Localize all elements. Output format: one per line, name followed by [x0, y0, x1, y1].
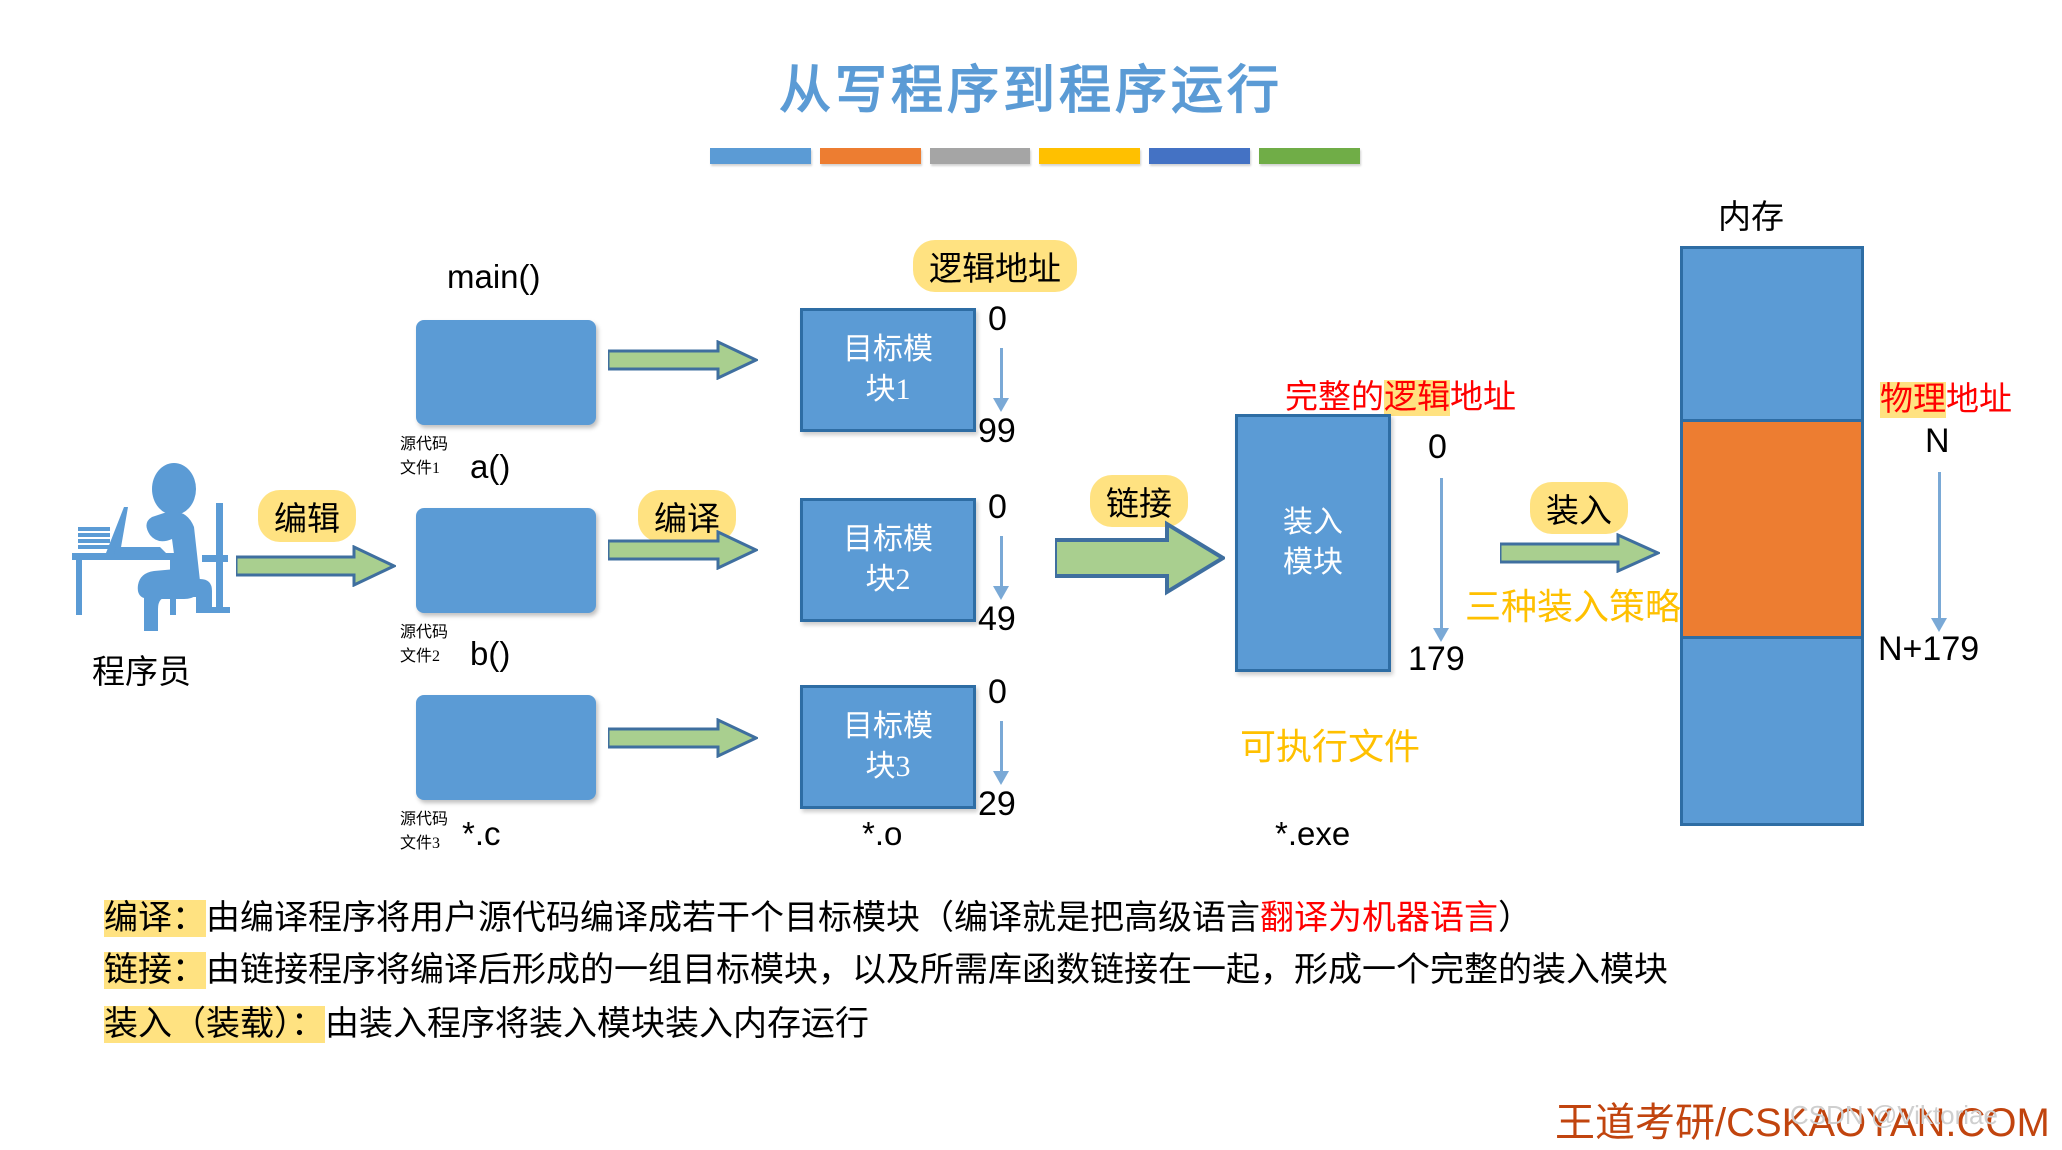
title-bar-1: [710, 148, 811, 164]
note-link-part-1: 由链接程序将编译后形成的一组目标模块，以及所需库函数链接在一起，形成一个完整的装…: [206, 952, 1668, 989]
memory-start-address: N: [1925, 422, 1950, 461]
source-file-2: 源代码 文件2: [400, 498, 595, 623]
logical-address-label: 逻辑地址: [913, 240, 1077, 292]
page-title: 从写程序到程序运行: [0, 48, 2062, 123]
step-edit-label: 编辑: [258, 490, 356, 542]
load-module-box: 装入 模块: [1235, 414, 1391, 672]
step-load-text: 装入: [1530, 482, 1628, 534]
note-load-part-1: 由装入程序将装入模块装入内存运行: [325, 1006, 869, 1043]
memory-segment-free-bottom: [1683, 639, 1861, 823]
note-compile-tag: 编译：: [104, 900, 206, 937]
source-func-1: main(): [447, 258, 541, 296]
step-edit-text: 编辑: [258, 490, 356, 542]
compile-arrow-2: [608, 530, 758, 575]
title-bar-6: [1259, 148, 1360, 164]
object-module-3-line1: 目标模: [843, 707, 933, 747]
load-module-address-prefix: 完整的: [1285, 380, 1384, 416]
object-module-1-line2: 块1: [843, 370, 933, 410]
note-compile-part-2: 翻译为机器语言: [1260, 900, 1498, 937]
load-module-end: 179: [1408, 640, 1465, 679]
note-link: 链接：由链接程序将编译后形成的一组目标模块，以及所需库函数链接在一起，形成一个完…: [104, 942, 1668, 991]
compile-arrow-3: [608, 718, 758, 763]
executable-file-note: 可执行文件: [1240, 718, 1420, 770]
object-module-2-line1: 目标模: [843, 520, 933, 560]
load-strategy-note: 三种装入策略: [1465, 578, 1681, 630]
note-link-tag: 链接：: [104, 952, 206, 989]
object-module-3: 目标模 块3: [800, 685, 976, 809]
memory-segment-free-top: [1683, 249, 1861, 419]
object-module-3-start: 0: [988, 673, 1007, 712]
title-bar-5: [1149, 148, 1250, 164]
object-module-1-end: 99: [978, 412, 1016, 451]
source-func-3: b(): [470, 635, 510, 673]
source-func-2: a(): [470, 448, 510, 486]
load-module-address-suffix: 地址: [1450, 380, 1516, 416]
object-module-1: 目标模 块1: [800, 308, 976, 432]
note-load-tag: 装入（装载）：: [104, 1006, 325, 1043]
title-accent-bars: [710, 148, 1360, 164]
load-module-address-highlight: 逻辑: [1384, 380, 1450, 416]
watermark-credit: CSDN @Viktoriae: [1790, 1100, 1998, 1131]
object-module-2: 目标模 块2: [800, 498, 976, 622]
title-bar-3: [930, 148, 1031, 164]
note-compile: 编译：由编译程序将用户源代码编译成若干个目标模块（编译就是把高级语言翻译为机器语…: [104, 890, 1532, 939]
memory-title: 内存: [1718, 190, 1784, 238]
link-arrow: [1055, 520, 1225, 601]
load-module-ext-label: *.exe: [1275, 815, 1350, 853]
step-load-label: 装入: [1530, 482, 1628, 534]
load-arrow: [1500, 533, 1660, 578]
object-module-1-line1: 目标模: [843, 330, 933, 370]
note-compile-part-3: ）: [1498, 900, 1532, 937]
physical-address-label: 物理地址: [1880, 372, 2012, 420]
compile-arrow-1: [608, 340, 758, 385]
physical-address-highlight: 物理: [1880, 382, 1946, 418]
source-file-1: 源代码 文件1: [400, 310, 595, 435]
object-module-3-line2: 块3: [843, 747, 933, 787]
edit-arrow: [236, 545, 396, 592]
object-module-2-line2: 块2: [843, 560, 933, 600]
note-load: 装入（装载）：由装入程序将装入模块装入内存运行: [104, 996, 869, 1045]
object-module-2-end: 49: [978, 600, 1016, 639]
title-bar-2: [820, 148, 921, 164]
object-module-3-end: 29: [978, 785, 1016, 824]
programmer-label: 程序员: [92, 645, 191, 693]
load-module-start: 0: [1428, 428, 1447, 467]
object-ext-label: *.o: [862, 815, 902, 853]
memory-block: [1680, 246, 1864, 826]
object-module-1-start: 0: [988, 300, 1007, 339]
title-bar-4: [1039, 148, 1140, 164]
load-module-line2: 模块: [1283, 543, 1343, 583]
load-module-address-label: 完整的逻辑地址: [1285, 370, 1516, 418]
logical-address-text: 逻辑地址: [913, 240, 1077, 292]
object-module-2-start: 0: [988, 488, 1007, 527]
source-file-3: 源代码 文件3: [400, 685, 595, 810]
load-module-line1: 装入: [1283, 503, 1343, 543]
note-compile-part-1: 由编译程序将用户源代码编译成若干个目标模块（编译就是把高级语言: [206, 900, 1260, 937]
memory-end-address: N+179: [1878, 630, 1979, 669]
physical-address-suffix: 地址: [1946, 382, 2012, 418]
source-ext-label: *.c: [462, 815, 501, 853]
memory-segment-loaded: [1683, 422, 1861, 636]
